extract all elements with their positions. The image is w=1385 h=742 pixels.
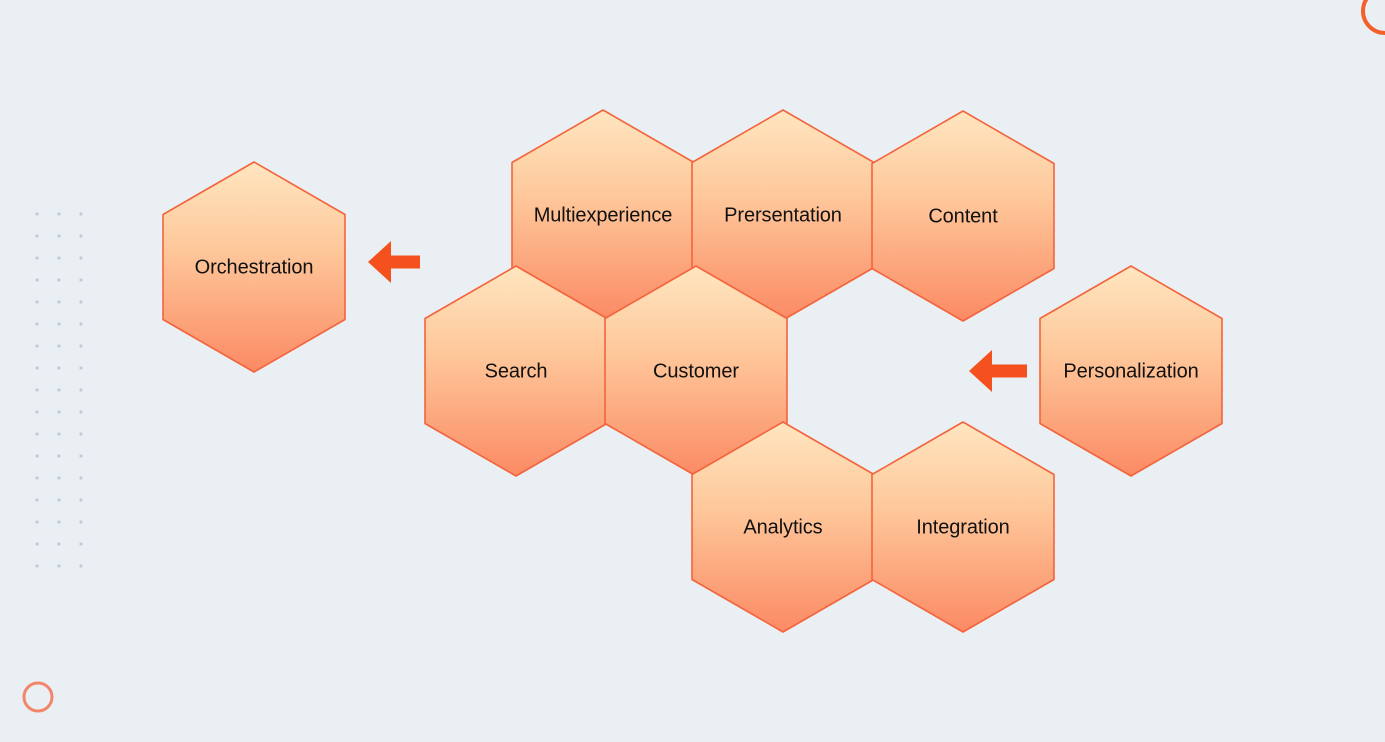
hexagon-label: Search [485,360,548,382]
hexagon-label: Orchestration [195,256,314,278]
hexagon-label: Prersentation [724,204,842,226]
grid-dot [35,410,38,413]
corner-arc [1363,0,1385,33]
grid-dot [79,432,82,435]
grid-dot [57,322,60,325]
grid-dot [35,564,38,567]
grid-dot [35,454,38,457]
grid-dot [79,322,82,325]
hexagon-label: Customer [653,360,739,382]
grid-dot [35,212,38,215]
arrow-to-orchestration [368,241,420,283]
grid-dot [79,454,82,457]
hexagon-integration[interactable]: Integration [872,422,1054,632]
honeycomb-diagram: OrchestrationMultiexperiencePrersentatio… [0,0,1385,742]
grid-dot [35,256,38,259]
grid-dot [79,344,82,347]
grid-dot [79,300,82,303]
arrow-from-personalization [969,350,1027,392]
grid-dot [79,256,82,259]
grid-dot [35,344,38,347]
grid-dot [57,300,60,303]
hexagon-content[interactable]: Content [872,111,1054,321]
grid-dot [35,278,38,281]
grid-dot [35,388,38,391]
grid-dot [79,234,82,237]
grid-dot [57,234,60,237]
grid-dot [79,498,82,501]
grid-dot [57,366,60,369]
grid-dot [79,564,82,567]
grid-dot [79,476,82,479]
dot-grid [35,212,82,567]
grid-dot [35,322,38,325]
grid-dot [79,520,82,523]
grid-dot [57,520,60,523]
grid-dot [79,388,82,391]
grid-dot [35,234,38,237]
grid-dot [57,432,60,435]
grid-dot [57,542,60,545]
grid-dot [57,256,60,259]
hexagon-orchestration[interactable]: Orchestration [163,162,345,372]
grid-dot [35,366,38,369]
hexagon-layer: OrchestrationMultiexperiencePrersentatio… [163,110,1222,632]
grid-dot [79,366,82,369]
grid-dot [57,278,60,281]
hexagon-label: Integration [916,516,1009,538]
grid-dot [35,300,38,303]
grid-dot [57,344,60,347]
grid-dot [57,454,60,457]
grid-dot [35,476,38,479]
grid-dot [79,212,82,215]
hexagon-label: Personalization [1063,360,1198,382]
grid-dot [35,520,38,523]
hexagon-personalization[interactable]: Personalization [1040,266,1222,476]
grid-dot [57,498,60,501]
hexagon-label: Analytics [743,516,822,538]
hexagon-label: Multiexperience [534,204,673,226]
grid-dot [79,542,82,545]
grid-dot [57,564,60,567]
ring [24,683,52,711]
grid-dot [35,432,38,435]
hexagon-label: Content [928,205,998,227]
grid-dot [79,410,82,413]
grid-dot [57,410,60,413]
grid-dot [35,542,38,545]
grid-dot [57,212,60,215]
diagram-canvas: OrchestrationMultiexperiencePrersentatio… [0,0,1385,742]
grid-dot [35,498,38,501]
grid-dot [57,476,60,479]
grid-dot [57,388,60,391]
grid-dot [79,278,82,281]
